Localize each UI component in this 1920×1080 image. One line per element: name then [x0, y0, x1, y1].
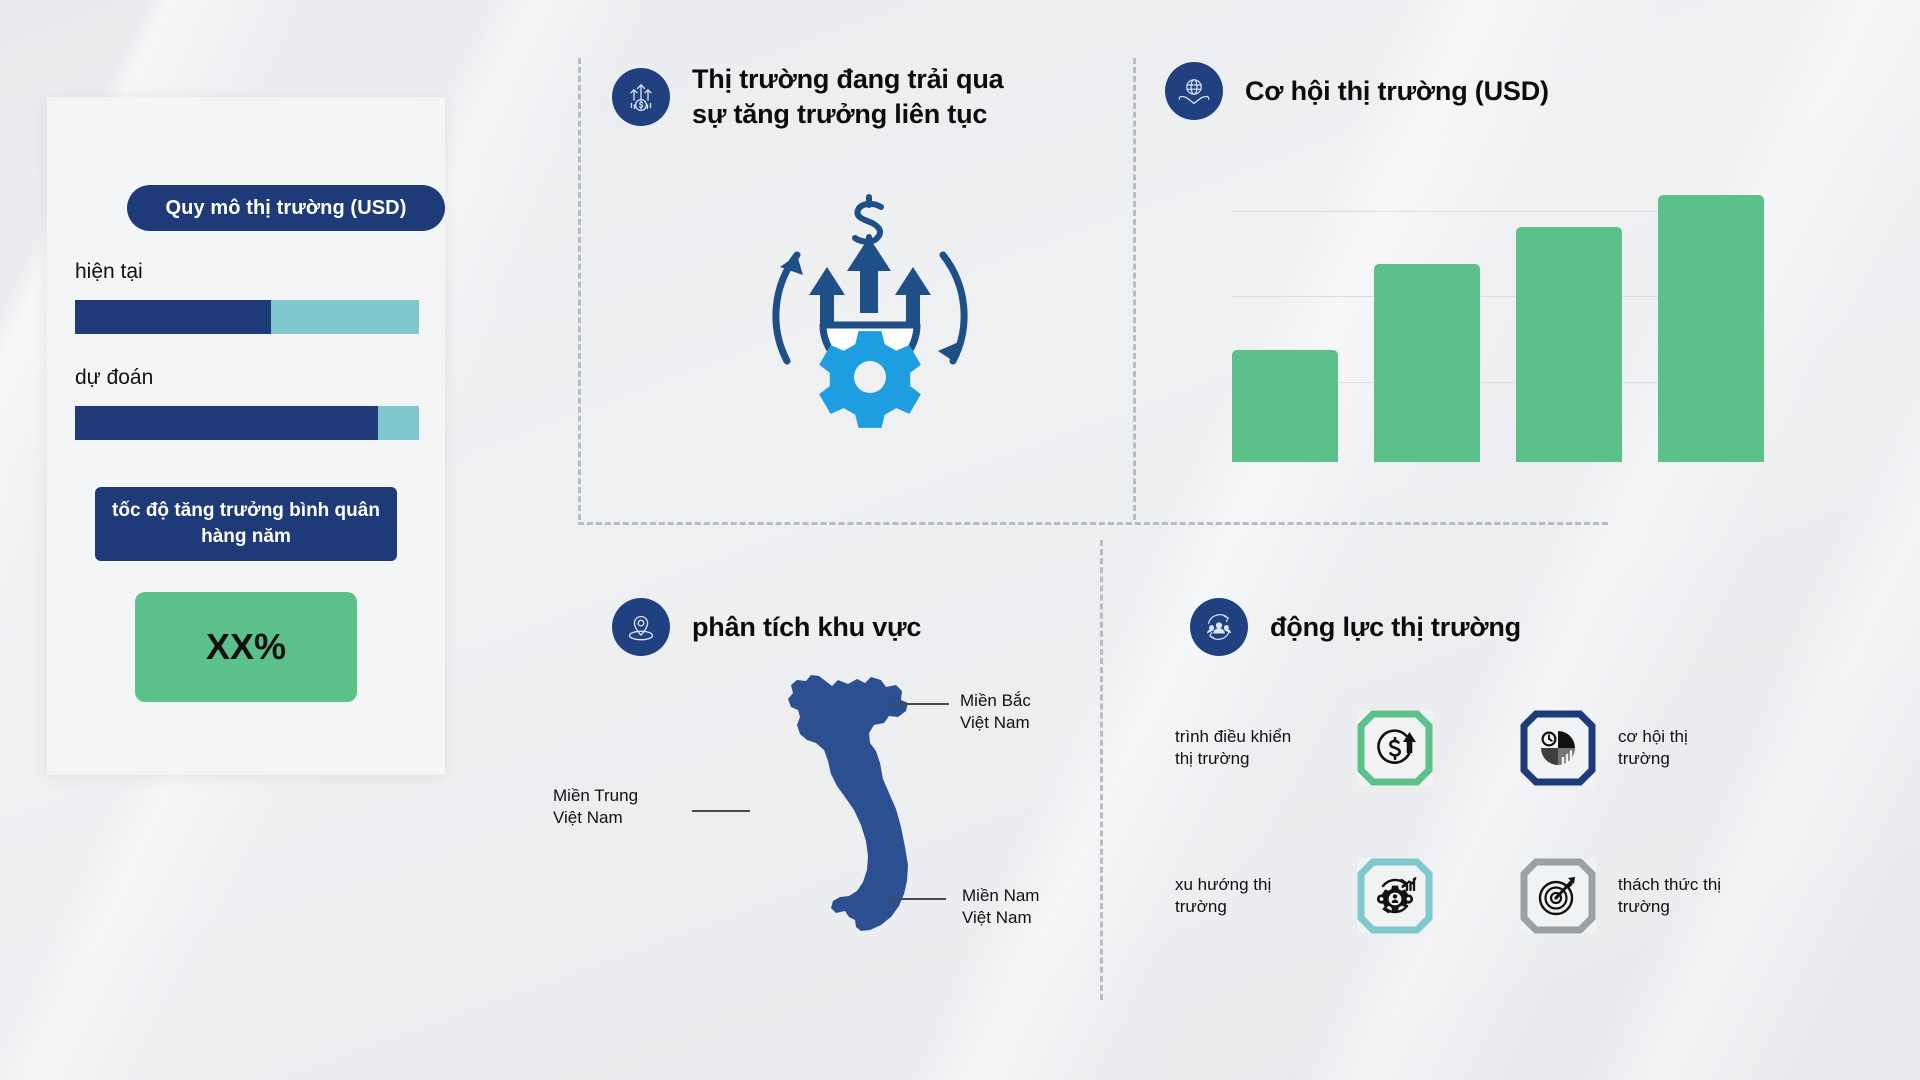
- regional-section-title: phân tích khu vực: [692, 610, 921, 645]
- map-label-central-line1: Miền Trung: [553, 786, 638, 805]
- divider-vertical-right-top: [1133, 58, 1136, 520]
- map-label-south-line2: Việt Nam: [962, 908, 1032, 927]
- dynamics-item-trends-label-line1: xu hướng thị: [1175, 875, 1271, 894]
- dynamics-item-challenges-label-line1: thách thức thị: [1618, 875, 1721, 894]
- growth-title-line2: sự tăng trưởng liên tục: [692, 99, 987, 129]
- metric-label-current: hiện tại: [75, 260, 143, 284]
- map-label-north-line2: Việt Nam: [960, 713, 1030, 732]
- dynamics-item-opportunities-label: cơ hội thị trường: [1618, 726, 1803, 770]
- dynamics-item-drivers[interactable]: trình điều khiển thị trường: [1175, 710, 1505, 786]
- dynamics-item-trends-label-line2: trường: [1175, 897, 1227, 916]
- metric-bar-current-fill: [75, 300, 271, 334]
- opportunity-section-header: Cơ hội thị trường (USD): [1165, 62, 1549, 120]
- growth-illustration: [735, 185, 1005, 435]
- pie-chart-clock-icon[interactable]: [1520, 710, 1596, 786]
- dynamics-item-challenges-label-line2: trường: [1618, 897, 1670, 916]
- map-label-central-line2: Việt Nam: [553, 808, 623, 827]
- growth-arrows-coin-icon: [612, 68, 670, 126]
- location-pin-icon: [612, 598, 670, 656]
- dynamics-item-drivers-label-line1: trình điều khiển: [1175, 727, 1291, 746]
- dollar-circle-uparrow-icon[interactable]: [1357, 710, 1433, 786]
- dynamics-item-opportunities-label-line1: cơ hội thị: [1618, 727, 1688, 746]
- growth-section-title: Thị trường đang trải qua sự tăng trưởng …: [692, 62, 1003, 131]
- market-size-badge: Quy mô thị trường (USD): [127, 185, 445, 231]
- map-label-south: Miền Nam Việt Nam: [962, 885, 1039, 929]
- chart-bar: [1232, 350, 1338, 462]
- map-label-central: Miền Trung Việt Nam: [553, 785, 683, 829]
- opportunity-section-title: Cơ hội thị trường (USD): [1245, 74, 1549, 109]
- divider-horizontal: [578, 522, 1608, 525]
- cagr-value-box: XX%: [135, 592, 357, 702]
- divider-vertical-left-top: [578, 58, 581, 520]
- map-leader-north: [893, 703, 949, 705]
- dynamics-item-opportunities-label-line2: trường: [1618, 749, 1670, 768]
- cagr-label-box: tốc độ tăng trưởng bình quân hàng năm: [95, 487, 397, 561]
- vietnam-map: [760, 672, 940, 972]
- market-size-badge-label: Quy mô thị trường (USD): [166, 197, 407, 220]
- gears-person-chart-icon[interactable]: [1357, 858, 1433, 934]
- map-label-north-line1: Miền Bắc: [960, 691, 1031, 710]
- map-label-north: Miền Bắc Việt Nam: [960, 690, 1031, 734]
- map-leader-central: [692, 810, 750, 812]
- dynamics-item-challenges[interactable]: thách thức thị trường: [1520, 858, 1860, 934]
- dynamics-item-opportunities[interactable]: cơ hội thị trường: [1520, 710, 1860, 786]
- chart-bars: [1232, 168, 1764, 462]
- dynamics-item-drivers-label-line2: thị trường: [1175, 749, 1250, 768]
- infographic-canvas: Quy mô thị trường (USD) hiện tại dự đoán…: [0, 0, 1920, 1080]
- chart-bar: [1658, 195, 1764, 462]
- dynamics-item-trends[interactable]: xu hướng thị trường: [1175, 858, 1505, 934]
- dynamics-item-trends-label: xu hướng thị trường: [1175, 874, 1357, 918]
- opportunity-bar-chart: [1232, 168, 1764, 462]
- regional-section-header: phân tích khu vực: [612, 598, 921, 656]
- metric-bar-forecast-fill: [75, 406, 378, 440]
- cagr-value: XX%: [206, 626, 286, 668]
- dynamics-section-header: động lực thị trường: [1190, 598, 1521, 656]
- dynamics-item-challenges-label: thách thức thị trường: [1618, 874, 1803, 918]
- target-dart-icon[interactable]: [1520, 858, 1596, 934]
- market-size-card: Quy mô thị trường (USD) hiện tại dự đoán…: [47, 97, 445, 775]
- chart-bar: [1374, 264, 1480, 462]
- globe-in-hands-icon: [1165, 62, 1223, 120]
- map-label-south-line1: Miền Nam: [962, 886, 1039, 905]
- map-leader-south: [888, 898, 946, 900]
- dynamics-item-drivers-label: trình điều khiển thị trường: [1175, 726, 1357, 770]
- cagr-label: tốc độ tăng trưởng bình quân hàng năm: [111, 498, 381, 549]
- people-cycle-icon: [1190, 598, 1248, 656]
- divider-vertical-bottom: [1100, 540, 1103, 1000]
- growth-section-header: Thị trường đang trải qua sự tăng trưởng …: [612, 62, 1032, 131]
- metric-label-forecast: dự đoán: [75, 366, 153, 390]
- dynamics-section-title: động lực thị trường: [1270, 610, 1521, 645]
- metric-bar-current: [75, 300, 419, 334]
- metric-bar-forecast: [75, 406, 419, 440]
- chart-bar: [1516, 227, 1622, 462]
- growth-title-line1: Thị trường đang trải qua: [692, 64, 1003, 94]
